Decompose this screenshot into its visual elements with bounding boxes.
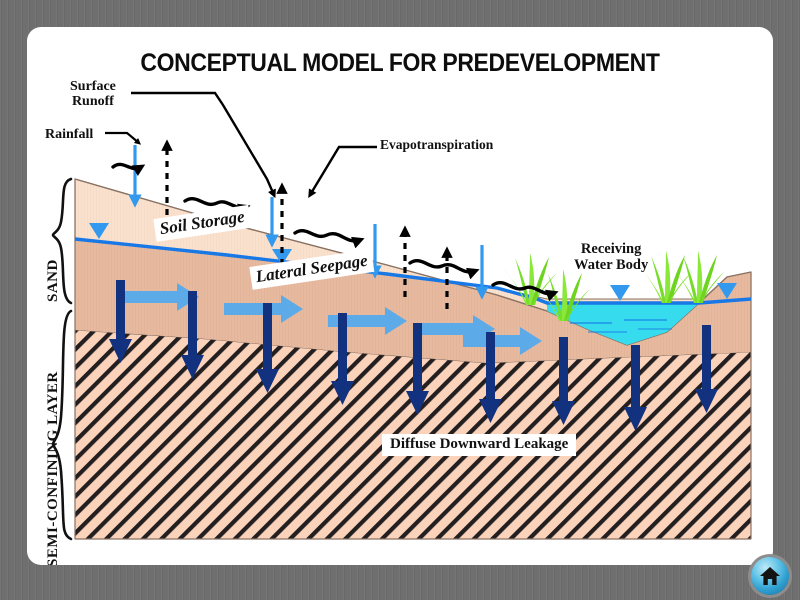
semi-confining-layer-stratum-label: SEMI-CONFINING LAYER bbox=[45, 332, 62, 565]
rainfall-leader-line bbox=[105, 133, 139, 143]
evapotranspiration-leader-line bbox=[310, 147, 377, 195]
surface-runoff-label: Surface Runoff bbox=[70, 79, 116, 109]
sand-stratum-label: SAND bbox=[45, 212, 62, 302]
home-button[interactable] bbox=[751, 557, 789, 595]
home-icon bbox=[759, 566, 781, 586]
surface-runoff-arrow bbox=[295, 231, 360, 241]
surface-runoff-arrow bbox=[410, 261, 475, 272]
surface-runoff-leader-line bbox=[131, 93, 274, 195]
surface-runoff-arrow bbox=[113, 164, 141, 168]
diffuse-downward-leakage-label: Diffuse Downward Leakage bbox=[382, 434, 576, 456]
rainfall-label: Rainfall bbox=[45, 127, 93, 142]
slide-canvas: CONCEPTUAL MODEL FOR PREDEVELOPMENT bbox=[0, 0, 800, 600]
slide-panel: CONCEPTUAL MODEL FOR PREDEVELOPMENT bbox=[27, 27, 773, 565]
evapotranspiration-label: Evapotranspiration bbox=[380, 138, 493, 153]
receiving-water-body-label: Receiving Water Body bbox=[574, 242, 648, 273]
conceptual-model-diagram bbox=[27, 27, 773, 565]
